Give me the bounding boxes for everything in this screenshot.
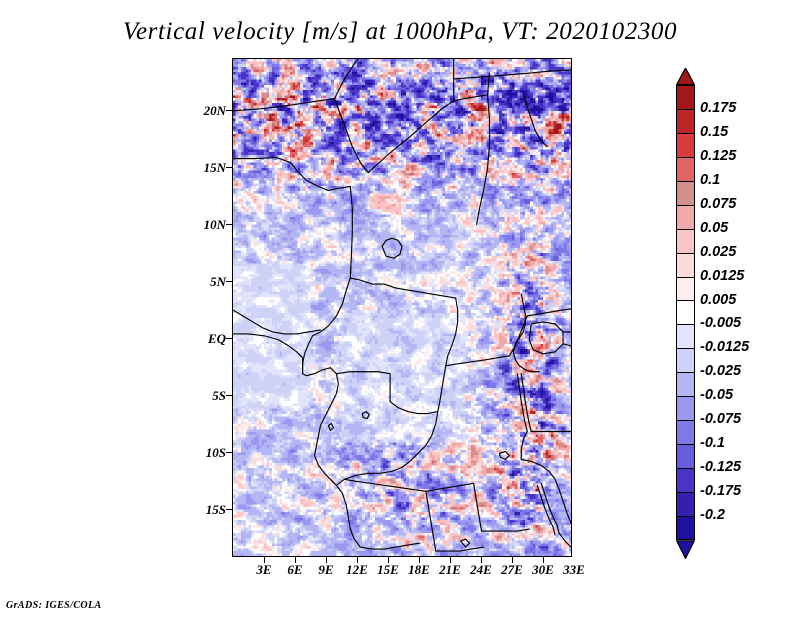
colorbar-segment	[676, 229, 695, 253]
colorbar-tick-label: 0.025	[700, 245, 736, 259]
ytick-label-eq: EQ	[180, 332, 226, 345]
map-plot-area	[232, 58, 572, 557]
colorbar-tick-label: -0.025	[700, 364, 741, 378]
ytick-label-15n: 15N	[180, 161, 226, 174]
colorbar-segment	[676, 492, 695, 516]
colorbar-tick-label: -0.075	[700, 412, 741, 426]
map-svg	[233, 59, 571, 556]
colorbar-tick-label: 0.175	[700, 101, 736, 115]
colorbar-arrow-down	[676, 540, 695, 559]
colorbar-segment	[676, 516, 695, 540]
colorbar-segment	[676, 85, 695, 109]
colorbar-segment	[676, 420, 695, 444]
colorbar-arrow-up	[676, 68, 695, 85]
page-title: Vertical velocity [m/s] at 1000hPa, VT: …	[0, 18, 800, 46]
ytick-label-20n: 20N	[180, 104, 226, 117]
colorbar-tick-label: -0.2	[700, 508, 725, 522]
xtick-label-33e: 33E	[554, 563, 594, 576]
xtick-mark	[295, 557, 296, 563]
xtick-mark	[512, 557, 513, 563]
ytick-label-5s: 5S	[180, 389, 226, 402]
xtick-mark	[326, 557, 327, 563]
colorbar-segment	[676, 444, 695, 468]
colorbar	[676, 85, 695, 540]
colorbar-tick-label: -0.175	[700, 484, 741, 498]
colorbar-segment	[676, 372, 695, 396]
xtick-mark	[543, 557, 544, 563]
xtick-mark	[357, 557, 358, 563]
colorbar-tick-label: 0.075	[700, 197, 736, 211]
colorbar-segment	[676, 277, 695, 301]
colorbar-segment	[676, 205, 695, 229]
colorbar-segment	[676, 133, 695, 157]
xtick-mark	[264, 557, 265, 563]
colorbar-segment	[676, 348, 695, 372]
colorbar-segment	[676, 324, 695, 348]
colorbar-tick-label: -0.0125	[700, 340, 749, 354]
colorbar-tick-label: -0.125	[700, 460, 741, 474]
colorbar-tick-label: 0.0125	[700, 269, 744, 283]
xtick-mark	[450, 557, 451, 563]
colorbar-segment	[676, 181, 695, 205]
xtick-mark	[388, 557, 389, 563]
colorbar-tick-label: -0.05	[700, 388, 733, 402]
colorbar-segment	[676, 396, 695, 420]
xtick-mark	[481, 557, 482, 563]
xtick-mark	[419, 557, 420, 563]
ytick-label-15s: 15S	[180, 503, 226, 516]
colorbar-tick-label: 0.15	[700, 125, 728, 139]
credit-text: GrADS: IGES/COLA	[6, 600, 102, 611]
ytick-label-10n: 10N	[180, 218, 226, 231]
colorbar-tick-label: 0.125	[700, 149, 736, 163]
colorbar-tick-label: 0.1	[700, 173, 720, 187]
colorbar-segment	[676, 109, 695, 133]
colorbar-segment	[676, 468, 695, 492]
colorbar-tick-label: -0.1	[700, 436, 725, 450]
colorbar-tick-label: -0.005	[700, 316, 741, 330]
colorbar-tick-label: 0.05	[700, 221, 728, 235]
colorbar-segment	[676, 300, 695, 324]
velocity-field	[233, 59, 571, 556]
colorbar-segment	[676, 157, 695, 181]
colorbar-tick-label: 0.005	[700, 293, 736, 307]
colorbar-segment	[676, 253, 695, 277]
grads-figure: Vertical velocity [m/s] at 1000hPa, VT: …	[0, 0, 800, 618]
ytick-label-5n: 5N	[180, 275, 226, 288]
ytick-label-10s: 10S	[180, 446, 226, 459]
